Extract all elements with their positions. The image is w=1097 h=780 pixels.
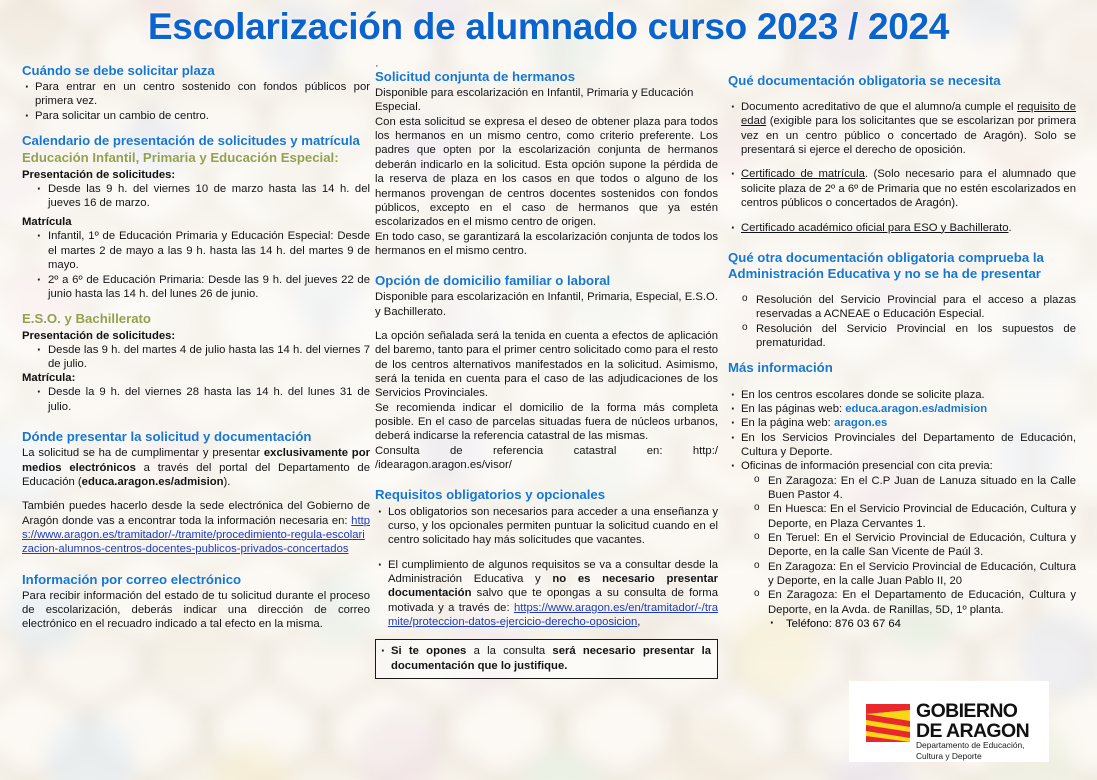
text-fragment: a la consulta — [466, 645, 552, 657]
list-requisitos-consulta: El cumplimiento de algunos requisitos se… — [375, 558, 718, 630]
text-fragment: Documento acreditativo de que el alumno/… — [741, 101, 1017, 113]
list-item: En Zaragoza: En el Servicio Provincial d… — [728, 560, 1076, 589]
text-underline-certificado-academico: Certificado académico oficial para ESO y… — [741, 222, 1009, 234]
paragraph-solicitud-conjunta-detalle: Con esta solicitud se expresa el deseo d… — [375, 115, 718, 230]
list-matricula-infantil: Infantil, 1º de Educación Primaria y Edu… — [22, 229, 370, 301]
list-item: Para solicitar un cambio de centro. — [22, 109, 370, 123]
column-right: Qué documentación obligatoria se necesit… — [728, 63, 1076, 632]
spacer — [22, 489, 370, 499]
text-fragment: En las páginas web: — [741, 403, 845, 415]
spacer — [728, 378, 1076, 388]
aragon-flag-icon — [866, 704, 910, 742]
list-certificado-academico: Certificado académico oficial para ESO y… — [728, 221, 1076, 235]
list-item: Documento acreditativo de que el alumno/… — [728, 100, 1076, 157]
portal-domain: educa.aragon.es/admision — [82, 476, 224, 488]
list-item: Si te opones a la consulta será necesari… — [378, 644, 711, 673]
spacer — [375, 548, 718, 558]
list-item: Para entrar en un centro sostenido con f… — [22, 80, 370, 109]
paragraph-donde-presentar: La solicitud se ha de cumplimentar y pre… — [22, 446, 370, 489]
list-item: En los centros escolares donde se solici… — [728, 388, 1076, 402]
list-item: Infantil, 1º de Educación Primaria y Edu… — [22, 229, 370, 272]
subheading-infantil-primaria: Educación Infantil, Primaria y Educación… — [22, 150, 370, 166]
spacer — [728, 350, 1076, 360]
list-item: En Huesca: En el Servicio Provincial de … — [728, 502, 1076, 531]
list-item: El cumplimiento de algunos requisitos se… — [375, 558, 718, 630]
paragraph-domicilio-disponible: Disponible para escolarización en Infant… — [375, 290, 718, 319]
heading-documentacion-obligatoria: Qué documentación obligatoria se necesit… — [728, 73, 1076, 89]
text-fragment: , — [637, 616, 640, 628]
content-columns: Cuándo se debe solicitar plaza Para entr… — [0, 63, 1097, 673]
logo-line-gobierno: GOBIERNO — [916, 702, 1029, 722]
column-left: Cuándo se debe solicitar plaza Para entr… — [22, 63, 370, 632]
list-otra-documentacion: Resolución del Servicio Provincial para … — [728, 293, 1076, 350]
label-presentacion-solicitudes-infantil: Presentación de solicitudes: — [22, 168, 370, 182]
text-fragment: En la página web: — [741, 417, 834, 429]
list-item: En las páginas web: educa.aragon.es/admi… — [728, 402, 1076, 416]
heading-solicitud-conjunta: Solicitud conjunta de hermanos — [375, 69, 718, 85]
telephone-line: Teléfono: 876 03 67 64 — [728, 617, 1076, 632]
label-matricula-infantil: Matrícula — [22, 215, 370, 229]
list-requisitos: Los obligatorios son necesarios para acc… — [375, 505, 718, 548]
list-item: En la página web: aragon.es — [728, 416, 1076, 430]
paragraph-domicilio-recomendacion: Se recomienda indicar el domicilio de la… — [375, 401, 718, 444]
list-item: 2º a 6º de Educación Primaria: Desde las… — [22, 273, 370, 302]
list-item: Resolución del Servicio Provincial para … — [728, 293, 1076, 322]
spacer — [728, 90, 1076, 100]
heading-calendario: Calendario de presentación de solicitude… — [22, 133, 370, 149]
logo-inner: GOBIERNO DE ARAGON — [866, 702, 1029, 742]
logo-subtitle-line1: Departamento de Educación, — [916, 740, 1024, 751]
list-item: Certificado académico oficial para ESO y… — [728, 221, 1076, 235]
heading-requisitos: Requisitos obligatorios y opcionales — [375, 487, 718, 503]
note-box-oposicion: Si te opones a la consulta será necesari… — [375, 639, 718, 679]
list-item: Los obligatorios son necesarios para acc… — [375, 505, 718, 548]
logo-subtitle-line2: Cultura y Deporte — [916, 751, 1024, 762]
spacer — [728, 235, 1076, 250]
list-item: Desde las 9 h. del martes 4 de julio has… — [22, 343, 370, 372]
spacer — [22, 414, 370, 429]
text-underline-certificado-matricula: Certificado de matrícula — [741, 168, 865, 180]
list-item: En Zaragoza: En el Departamento de Educa… — [728, 588, 1076, 617]
heading-opcion-domicilio: Opción de domicilio familiar o laboral — [375, 273, 718, 289]
label-matricula-eso: Matrícula: — [22, 371, 370, 385]
list-mas-informacion: En los centros escolares donde se solici… — [728, 388, 1076, 474]
heading-mas-informacion: Más información — [728, 360, 1076, 376]
paragraph-informacion-correo: Para recibir información del estado de t… — [22, 589, 370, 632]
link-aragon-es[interactable]: aragon.es — [834, 417, 887, 429]
list-item: Desde la 9 h. del viernes 28 hasta las 1… — [22, 385, 370, 414]
logo-subtitle: Departamento de Educación, Cultura y Dep… — [916, 740, 1024, 762]
text-emphasis: Si te opones — [391, 645, 466, 657]
list-note-oposicion: Si te opones a la consulta será necesari… — [378, 644, 711, 673]
list-oficinas-presenciales: En Zaragoza: En el C.P Juan de Lanuza si… — [728, 474, 1076, 617]
list-item: Resolución del Servicio Provincial en lo… — [728, 322, 1076, 351]
text-fragment: La solicitud se ha de cumplimentar y pre… — [22, 447, 264, 459]
page-title: Escolarización de alumnado curso 2023 / … — [0, 8, 1097, 47]
paragraph-solicitud-conjunta-intro: Disponible para escolarización en Infant… — [375, 86, 718, 115]
subheading-eso-bachillerato: E.S.O. y Bachillerato — [22, 311, 370, 327]
spacer — [22, 123, 370, 133]
heading-informacion-correo: Información por correo electrónico — [22, 572, 370, 588]
list-item: Oficinas de información presencial con c… — [728, 459, 1076, 473]
spacer — [375, 258, 718, 273]
spacer — [22, 557, 370, 572]
paragraph-solicitud-conjunta-garantia: En todo caso, se garantizará la escolari… — [375, 230, 718, 259]
list-solicitudes-infantil: Desde las 9 h. del viernes 10 de marzo h… — [22, 182, 370, 211]
heading-donde-presentar: Dónde presentar la solicitud y documenta… — [22, 429, 370, 445]
link-educa-aragon-admision[interactable]: educa.aragon.es/admision — [845, 403, 987, 415]
label-presentacion-solicitudes-eso: Presentación de solicitudes: — [22, 329, 370, 343]
column-middle: · Solicitud conjunta de hermanos Disponi… — [375, 63, 718, 679]
list-certificado-matricula: Certificado de matrícula. (Solo necesari… — [728, 167, 1076, 210]
spacer — [22, 301, 370, 311]
spacer — [375, 472, 718, 487]
text-fragment: También puedes hacerlo desde la sede ele… — [22, 500, 370, 526]
list-documentacion-obligatoria: Documento acreditativo de que el alumno/… — [728, 100, 1076, 157]
paragraph-sede-electronica: También puedes hacerlo desde la sede ele… — [22, 499, 370, 556]
list-cuando-solicitar: Para entrar en un centro sostenido con f… — [22, 80, 370, 123]
text-fragment: ). — [224, 476, 231, 488]
list-item: Certificado de matrícula. (Solo necesari… — [728, 167, 1076, 210]
heading-cuando-solicitar: Cuándo se debe solicitar plaza — [22, 63, 370, 79]
text-fragment: (exigible para los solicitantes que se e… — [741, 115, 1076, 156]
spacer — [375, 319, 718, 329]
poster-root: Escolarización de alumnado curso 2023 / … — [0, 0, 1097, 780]
list-item: En Teruel: En el Servicio Provincial de … — [728, 531, 1076, 560]
list-item: Desde las 9 h. del viernes 10 de marzo h… — [22, 182, 370, 211]
spacer — [728, 283, 1076, 293]
heading-otra-documentacion: Qué otra documentación obligatoria compr… — [728, 250, 1076, 282]
spacer — [728, 63, 1076, 73]
list-item: En Zaragoza: En el C.P Juan de Lanuza si… — [728, 474, 1076, 503]
spacer — [728, 211, 1076, 221]
text-fragment: . — [1009, 222, 1012, 234]
paragraph-domicilio-baremo: La opción señalada será la tenida en cue… — [375, 329, 718, 401]
paragraph-referencia-catastral: Consulta de referencia catastral en: htt… — [375, 444, 718, 473]
list-solicitudes-eso: Desde las 9 h. del martes 4 de julio has… — [22, 343, 370, 372]
spacer — [728, 157, 1076, 167]
logo-wordmark: GOBIERNO DE ARAGON — [916, 702, 1029, 742]
logo-line-de-aragon: DE ARAGON — [916, 722, 1029, 742]
list-item: En los Servicios Provinciales del Depart… — [728, 431, 1076, 460]
spacer — [375, 629, 718, 639]
list-matricula-eso: Desde la 9 h. del viernes 28 hasta las 1… — [22, 385, 370, 414]
